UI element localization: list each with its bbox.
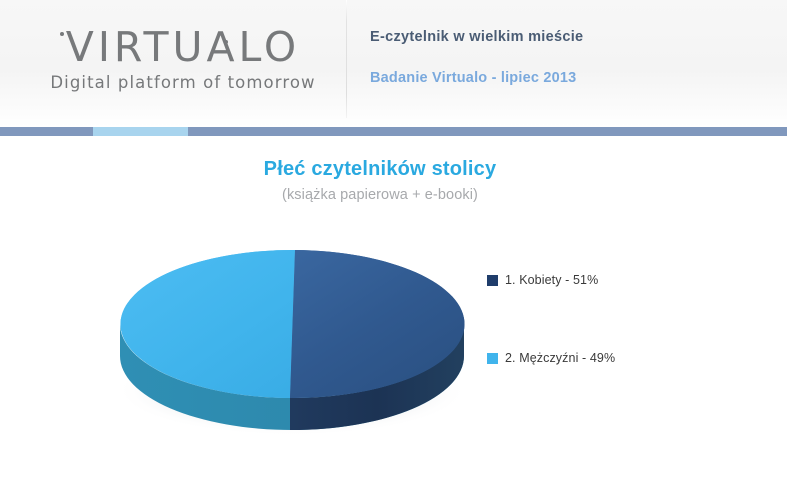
legend-swatch-mezczyzni-icon bbox=[487, 353, 498, 364]
chart-title: Płeć czytelników stolicy bbox=[0, 158, 760, 181]
page-header: VIRTUALO Digital platform of tomorrow E-… bbox=[0, 0, 787, 127]
pie-chart-svg bbox=[112, 220, 472, 440]
accent-bar-segment-left bbox=[0, 127, 93, 136]
legend-swatch-kobiety-icon bbox=[487, 275, 498, 286]
pie-chart bbox=[112, 220, 472, 440]
legend-label-mezczyzni: 2. Mężczyźni - 49% bbox=[505, 351, 615, 365]
legend-label-kobiety: 1. Kobiety - 51% bbox=[505, 273, 598, 287]
logo-wordmark-text: VIRTUALO bbox=[66, 23, 300, 71]
header-vertical-divider bbox=[346, 0, 347, 118]
chart-area: Płeć czytelników stolicy (książka papier… bbox=[0, 136, 787, 500]
virtualo-logo: VIRTUALO Digital platform of tomorrow bbox=[38, 24, 328, 94]
legend-item-mezczyzni[interactable]: 2. Mężczyźni - 49% bbox=[487, 350, 615, 366]
chart-legend: 1. Kobiety - 51% 2. Mężczyźni - 49% bbox=[487, 272, 615, 366]
logo-dot-v-icon bbox=[60, 32, 64, 36]
legend-item-kobiety[interactable]: 1. Kobiety - 51% bbox=[487, 272, 615, 288]
logo-wordmark: VIRTUALO bbox=[38, 24, 328, 70]
logo-tagline: Digital platform of tomorrow bbox=[38, 72, 328, 94]
accent-bar-segment-right bbox=[188, 127, 787, 136]
chart-subtitle: (książka papierowa + e-booki) bbox=[0, 187, 760, 203]
accent-bar bbox=[0, 127, 787, 136]
header-title-block: E-czytelnik w wielkim mieście Badanie Vi… bbox=[370, 27, 583, 88]
header-title-primary: E-czytelnik w wielkim mieście bbox=[370, 27, 583, 47]
accent-bar-segment-highlight bbox=[93, 127, 188, 136]
header-title-secondary: Badanie Virtualo - lipiec 2013 bbox=[370, 68, 583, 88]
logo-dot-a-icon bbox=[224, 40, 228, 44]
